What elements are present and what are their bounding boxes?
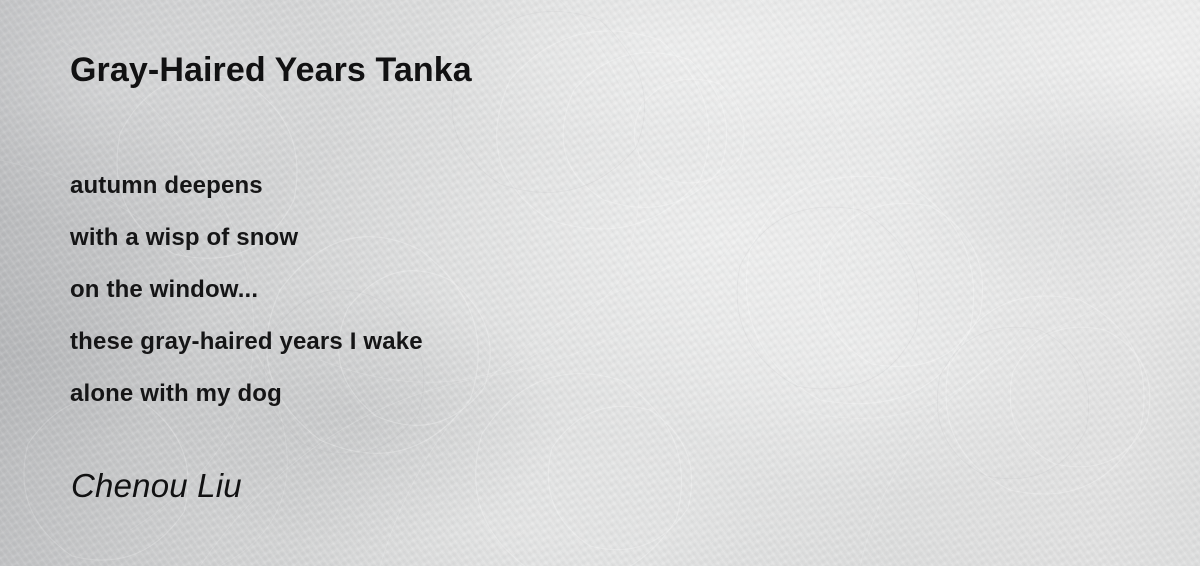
poem-line: autumn deepens (70, 160, 423, 212)
poem-line: on the window... (70, 264, 423, 316)
poem-content: Gray-Haired Years Tanka autumn deepens w… (0, 0, 1200, 566)
poem-body: autumn deepens with a wisp of snow on th… (70, 160, 423, 420)
poem-image-card: Gray-Haired Years Tanka autumn deepens w… (0, 0, 1200, 566)
poem-line: these gray-haired years I wake (70, 316, 423, 368)
poem-line: with a wisp of snow (70, 212, 423, 264)
poem-author: Chenou Liu (71, 466, 242, 506)
poem-line: alone with my dog (70, 368, 423, 420)
poem-title: Gray-Haired Years Tanka (70, 50, 472, 90)
